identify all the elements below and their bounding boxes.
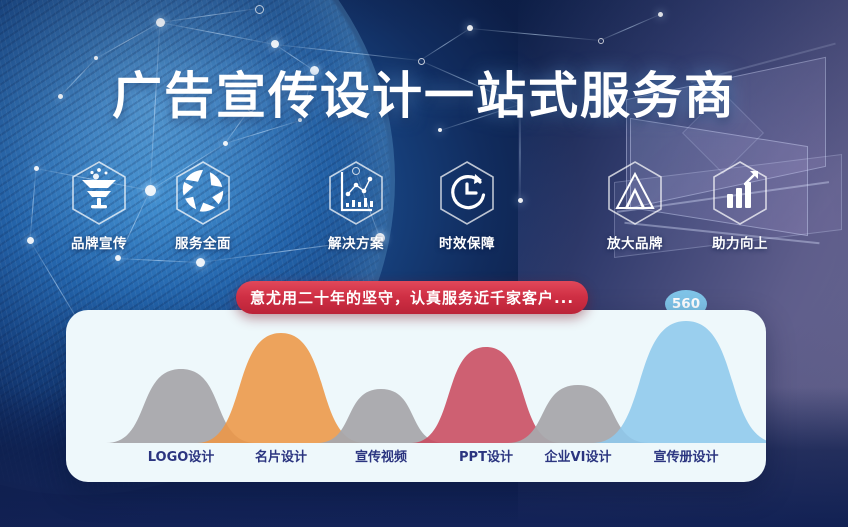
page-title: 广告宣传设计一站式服务商 bbox=[0, 56, 848, 128]
category-label-3: 宣传视频 bbox=[321, 446, 441, 465]
tagline-text: 意尤用二十年的坚守，认真服务近千家客户... bbox=[250, 287, 574, 308]
feature-label: 服务全面 bbox=[157, 232, 249, 252]
chart-category-labels: LOGO设计名片设计宣传视频PPT设计企业VI设计宣传册设计 bbox=[66, 446, 766, 480]
feature-item-4[interactable]: 时效保障 bbox=[421, 160, 513, 252]
feature-item-2[interactable]: 服务全面 bbox=[157, 160, 249, 252]
feature-item-3[interactable]: 解决方案 bbox=[310, 160, 402, 252]
line-chart-icon bbox=[325, 160, 387, 226]
feature-label: 解决方案 bbox=[310, 232, 402, 252]
clock-rewind-icon bbox=[436, 160, 498, 226]
bell-curve-chart bbox=[66, 310, 766, 448]
chart-panel: LOGO设计名片设计宣传视频PPT设计企业VI设计宣传册设计 bbox=[66, 310, 766, 482]
feature-item-1[interactable]: 品牌宣传 bbox=[53, 160, 145, 252]
feature-item-6[interactable]: 助力向上 bbox=[694, 160, 786, 252]
banner-canvas: 广告宣传设计一站式服务商 品牌宣传服务全面解决方案时效保障放大品牌助力向上 意尤… bbox=[0, 0, 848, 527]
megaphone-badge-icon bbox=[68, 160, 130, 226]
feature-label: 品牌宣传 bbox=[53, 232, 145, 252]
feature-label: 放大品牌 bbox=[589, 232, 681, 252]
category-label-6: 宣传册设计 bbox=[626, 446, 746, 465]
feature-item-5[interactable]: 放大品牌 bbox=[589, 160, 681, 252]
bar-chart-up-icon bbox=[709, 160, 771, 226]
feature-label: 时效保障 bbox=[421, 232, 513, 252]
triangle-icon bbox=[604, 160, 666, 226]
feature-icon-row: 品牌宣传服务全面解决方案时效保障放大品牌助力向上 bbox=[0, 160, 848, 250]
feature-label: 助力向上 bbox=[694, 232, 786, 252]
aperture-icon bbox=[172, 160, 234, 226]
category-label-5: 企业VI设计 bbox=[518, 446, 638, 465]
tagline-ribbon: 意尤用二十年的坚守，认真服务近千家客户... bbox=[236, 281, 588, 314]
